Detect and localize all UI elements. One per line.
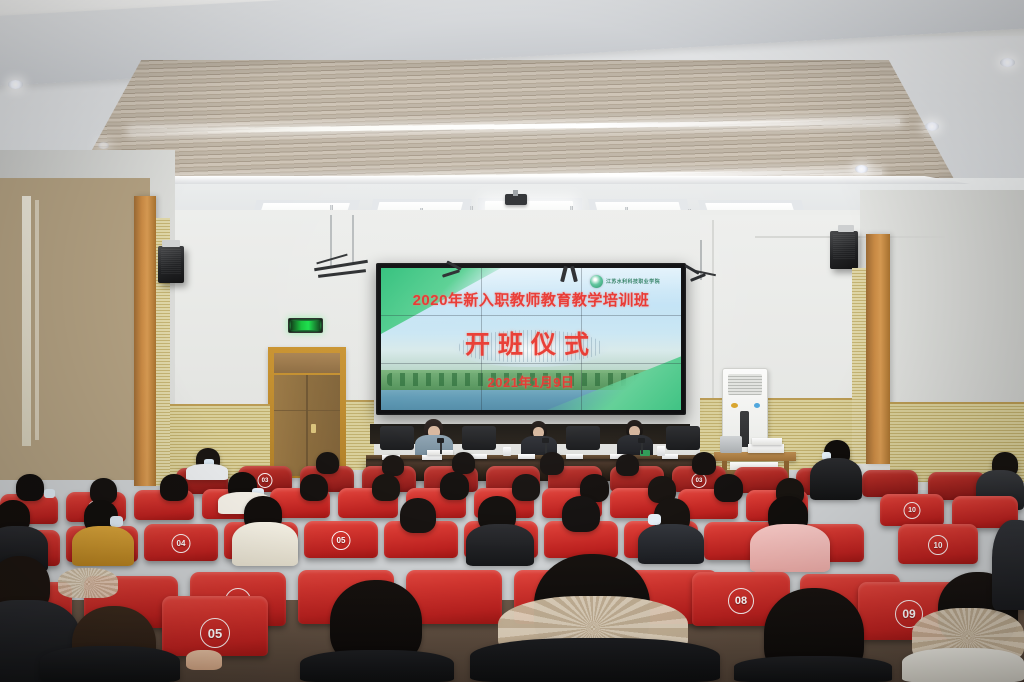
microphone-stem	[641, 442, 643, 454]
audience-head	[452, 452, 475, 474]
audience-body	[750, 524, 830, 572]
exit-sign-glow	[291, 321, 321, 329]
audience-head	[160, 474, 188, 501]
audience-head	[562, 496, 600, 532]
downlight-icon	[8, 80, 23, 89]
projector-mount	[513, 190, 518, 196]
seat-number: 10	[904, 502, 921, 519]
seat-number: 08	[728, 588, 754, 614]
audience-body	[466, 524, 534, 566]
ac-led-indicator	[754, 403, 760, 408]
audience-head	[440, 472, 469, 500]
led-tile-seam	[381, 363, 681, 364]
downlight-icon	[98, 142, 109, 149]
table-equipment	[720, 436, 742, 453]
seat-number: 03	[692, 473, 707, 488]
door-panel-line	[274, 410, 340, 411]
seat[interactable]: 10	[880, 494, 944, 526]
audience-head	[512, 474, 540, 501]
stage-chair	[380, 426, 414, 450]
logo-mark-icon	[590, 275, 603, 288]
audience-head	[616, 454, 639, 476]
audience-body	[734, 656, 892, 682]
seat[interactable]	[862, 470, 918, 497]
audience-body	[186, 464, 228, 480]
seat-number: 05	[332, 531, 351, 550]
seat[interactable]: 04	[144, 524, 218, 561]
wall-groove	[712, 220, 714, 400]
seat[interactable]: 05	[304, 521, 378, 558]
audience-body	[232, 522, 298, 566]
audience-head	[300, 474, 328, 501]
led-video-wall: 江苏水利科技职业学院 2020年新入职教师教育教学培训班 开班仪式 2021年1…	[376, 263, 686, 415]
seat-number: 10	[928, 535, 948, 555]
logo-text: 江苏水利科技职业学院	[606, 278, 660, 285]
wall-pillar-left	[134, 196, 156, 486]
stage-chair	[566, 426, 600, 450]
paper-stack	[752, 438, 782, 445]
microphone	[638, 438, 645, 443]
audience-head	[400, 498, 436, 533]
audience-body	[638, 524, 704, 564]
screen-date-text: 2021年1月9日	[381, 372, 681, 391]
microphone-stem	[440, 442, 442, 454]
ac-grille	[728, 374, 762, 395]
led-screen-surface: 江苏水利科技职业学院 2020年新入职教师教育教学培训班 开班仪式 2021年1…	[381, 268, 681, 410]
hanging-rack-rod	[352, 215, 354, 263]
downlight-icon	[855, 165, 868, 173]
institution-logo: 江苏水利科技职业学院	[590, 275, 660, 288]
stage-chair	[462, 426, 496, 450]
audience-body	[992, 520, 1024, 610]
paper-stack	[748, 444, 784, 453]
speaker-bracket-right	[838, 225, 854, 232]
auditorium-photo: 江苏水利科技职业学院 2020年新入职教师教育教学培训班 开班仪式 2021年1…	[0, 0, 1024, 682]
audience-head	[692, 452, 716, 475]
seat[interactable]: 05	[162, 596, 268, 656]
audience-body	[470, 638, 720, 682]
audience-head	[316, 452, 339, 474]
microphone	[542, 438, 549, 443]
name-card	[518, 454, 535, 459]
side-table	[714, 452, 796, 461]
audience-head	[540, 452, 564, 475]
audience-body	[40, 646, 180, 682]
screen-heading-text: 2020年新入职教师教育教学培训班	[381, 289, 681, 310]
microphone	[437, 438, 444, 443]
water-cup	[503, 447, 511, 456]
name-card	[422, 455, 442, 460]
ceiling-frame-edge	[60, 176, 970, 184]
door-handle[interactable]	[311, 424, 316, 433]
acoustic-panel-right	[852, 268, 866, 464]
downlight-icon	[925, 122, 939, 131]
ac-led-indicator	[731, 403, 738, 408]
window-light-gap	[35, 200, 39, 440]
audience-head	[714, 474, 743, 502]
audience-head	[16, 474, 44, 501]
hand	[186, 650, 222, 670]
audience-head	[382, 455, 404, 476]
seat-number: 03	[258, 473, 273, 488]
audience-body	[902, 648, 1024, 682]
fur-collar	[58, 568, 118, 598]
name-card	[566, 454, 583, 459]
stage-chair	[666, 426, 700, 450]
led-tile-seam	[381, 315, 681, 316]
seat-number: 05	[200, 618, 230, 648]
speaker-bracket-left	[162, 240, 180, 247]
audience-body	[810, 458, 862, 500]
emergency-exit-sign	[288, 318, 323, 333]
seat-number: 04	[172, 534, 191, 553]
window-light-gap	[22, 196, 31, 446]
water-cup	[657, 446, 665, 456]
audience-head	[372, 474, 400, 501]
speaker-right	[830, 231, 858, 269]
screen-main-title: 开班仪式	[381, 325, 681, 361]
door-center-split	[306, 375, 308, 476]
face-mask	[44, 489, 55, 498]
wall-pillar-right	[866, 234, 890, 464]
seat[interactable]: 10	[898, 524, 978, 564]
audience-body	[300, 650, 454, 682]
face-mask	[648, 514, 661, 525]
speaker-left	[158, 246, 184, 283]
audience-body	[72, 526, 134, 566]
door-transom	[274, 353, 340, 373]
downlight-icon	[1000, 58, 1015, 67]
